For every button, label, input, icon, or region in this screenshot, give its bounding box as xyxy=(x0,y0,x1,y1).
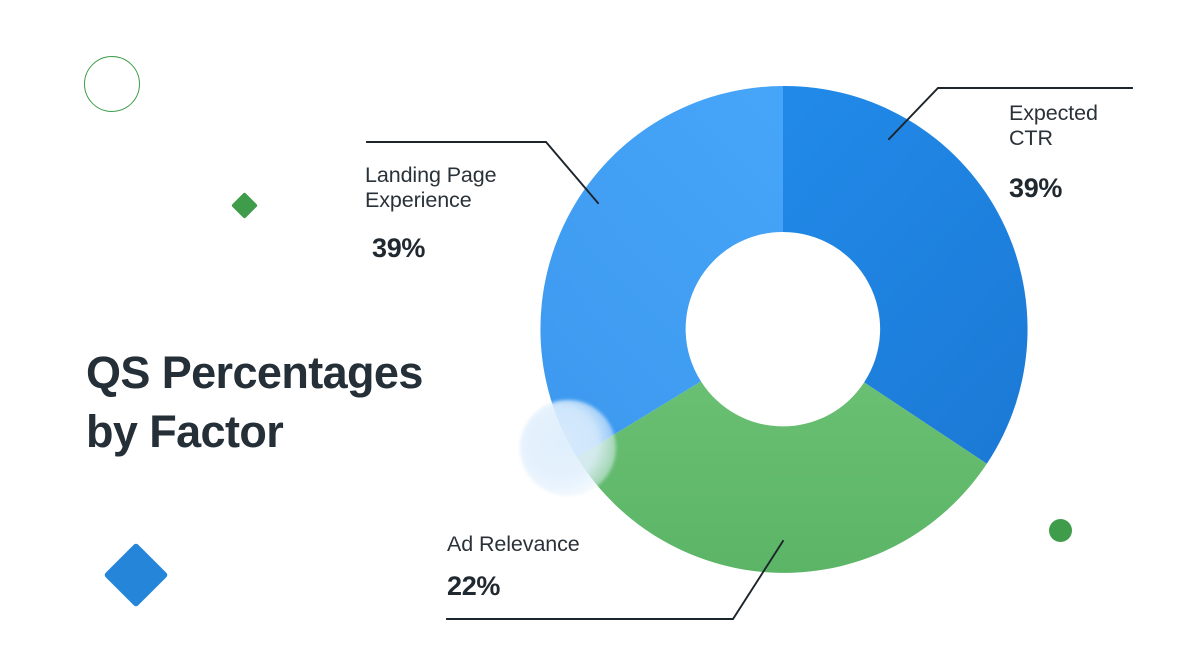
callout-expected-ctr: Expected CTR 39% xyxy=(1009,101,1098,204)
callout-label-expected-ctr: Expected CTR xyxy=(1009,101,1098,151)
callout-ad-relevance: Ad Relevance 22% xyxy=(447,532,580,602)
callout-label-landing-page: Landing Page Experience xyxy=(365,163,497,213)
glow-blob-decoration xyxy=(520,400,616,496)
slice-expected-ctr[interactable] xyxy=(783,86,1028,464)
callout-label-ad-relevance: Ad Relevance xyxy=(447,532,580,557)
callout-value-landing-page: 39% xyxy=(372,233,497,264)
infographic-canvas: QS Percentages by Factor Expected CTR 39… xyxy=(0,0,1200,664)
callout-landing-page: Landing Page Experience 39% xyxy=(365,163,497,264)
callout-value-ad-relevance: 22% xyxy=(447,571,580,602)
callout-value-expected-ctr: 39% xyxy=(1009,173,1098,204)
donut-chart xyxy=(0,0,1200,664)
page-title: QS Percentages by Factor xyxy=(86,343,516,462)
